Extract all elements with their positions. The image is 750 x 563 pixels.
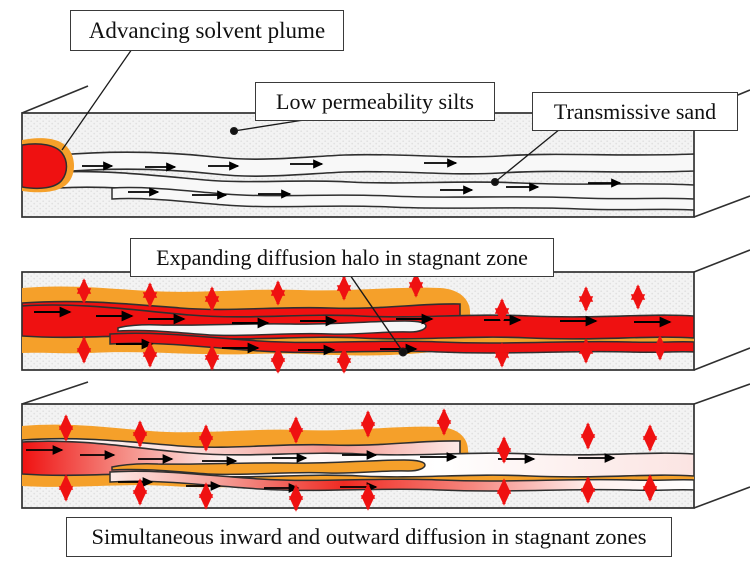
figure-canvas: Advancing solvent plume Low permeability…: [0, 0, 750, 563]
callout-low-permeability-silts[interactable]: Low permeability silts: [255, 82, 495, 121]
panel-1-block: [22, 49, 750, 217]
callout-sand-label: Transmissive sand: [554, 101, 716, 123]
callout-silts-label: Low permeability silts: [276, 91, 474, 113]
callout-simultaneous-label: Simultaneous inward and outward diffusio…: [91, 526, 646, 549]
callout-plume-label: Advancing solvent plume: [89, 19, 325, 42]
callout-halo-label: Expanding diffusion halo in stagnant zon…: [156, 247, 528, 269]
callout-expanding-diffusion-halo[interactable]: Expanding diffusion halo in stagnant zon…: [130, 238, 554, 277]
leader-dot-sand: [492, 179, 499, 186]
callout-transmissive-sand[interactable]: Transmissive sand: [532, 92, 738, 131]
callout-simultaneous-diffusion[interactable]: Simultaneous inward and outward diffusio…: [66, 517, 672, 557]
leader-dot-silts: [231, 128, 238, 135]
leader-dot-halo: [399, 348, 407, 356]
panel-3-block: [22, 382, 750, 510]
panel-1-plume-core: [22, 144, 67, 188]
callout-advancing-solvent-plume[interactable]: Advancing solvent plume: [70, 10, 344, 51]
panel-2-3d-edges: [694, 250, 750, 370]
